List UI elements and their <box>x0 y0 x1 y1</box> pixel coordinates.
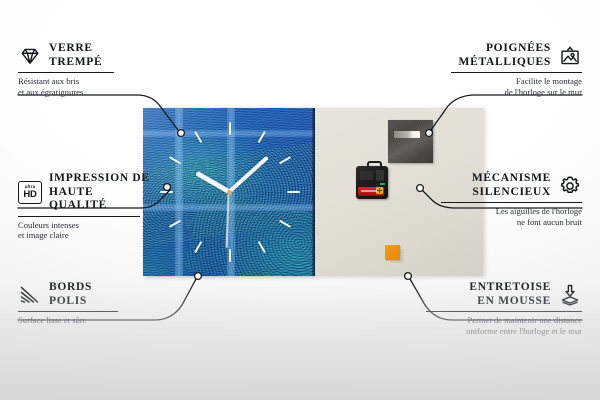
callout-poignees-metalliques[interactable]: POIGNÉES MÉTALLIQUES Facilite le montage… <box>447 42 582 98</box>
callout-mecanisme-silencieux[interactable]: MÉCANISME SILENCIEUX Les aiguilles de l'… <box>437 172 582 228</box>
arrow-down-onto-layers-icon <box>558 283 582 307</box>
callout-rule <box>441 202 582 203</box>
clock-tick <box>194 241 202 253</box>
metal-hanger-plate <box>388 120 433 163</box>
product-image-group <box>143 108 483 276</box>
callout-subtitle: Couleurs intenses et image claire <box>18 220 153 241</box>
clock-mechanism <box>356 166 388 199</box>
clock-face <box>143 108 315 276</box>
gear-icon <box>558 174 582 198</box>
callout-title: VERRE TREMPÉ <box>49 42 102 69</box>
clock-second-hand <box>226 192 230 248</box>
hanger-keyhole-slot <box>394 131 420 138</box>
foam-spacer <box>385 245 400 260</box>
battery-plus-terminal <box>376 187 383 194</box>
clock-tick <box>194 131 202 143</box>
clock-front-glass-panel <box>143 108 315 276</box>
callout-title: ENTRETOISE EN MOUSSE <box>469 281 551 308</box>
mechanism-side-detail <box>376 170 384 181</box>
mechanism-green-marker <box>380 183 385 185</box>
clock-center-cap <box>227 190 232 195</box>
clock-tick <box>160 191 173 193</box>
clock-hour-hand <box>195 171 230 194</box>
clock-tick <box>279 220 291 228</box>
callout-rule <box>18 311 118 312</box>
clock-tick <box>287 191 300 193</box>
callout-rule <box>18 216 140 217</box>
callout-subtitle: Surface lisse et sûre <box>18 315 128 326</box>
callout-title: IMPRESSION DE HAUTE QUALITÉ <box>49 172 153 213</box>
callout-rule <box>451 72 582 73</box>
clock-tick <box>229 249 231 262</box>
callout-subtitle: Résistant aux bris et aux égratignures <box>18 76 128 97</box>
mechanism-panel-detail <box>360 171 373 180</box>
mechanism-body <box>356 166 388 199</box>
clock-tick <box>279 156 291 164</box>
callout-bords-polis[interactable]: BORDS POLIS Surface lisse et sûre <box>18 281 128 326</box>
callout-impression-haute-qualite[interactable]: ultra HD IMPRESSION DE HAUTE QUALITÉ Cou… <box>18 172 153 241</box>
clock-tick <box>258 131 266 143</box>
callout-rule <box>426 311 582 312</box>
clock-tick <box>229 122 231 135</box>
callout-title: POIGNÉES MÉTALLIQUES <box>459 42 551 69</box>
callout-subtitle: Facilite le montage de l'horloge sur le … <box>447 76 582 97</box>
infographic-canvas: VERRE TREMPÉ Résistant aux bris et aux é… <box>0 0 600 400</box>
clock-minute-hand <box>228 156 269 194</box>
battery <box>358 187 384 196</box>
framed-picture-hanging-icon <box>558 44 582 68</box>
ultra-hd-icon: ultra HD <box>18 181 42 204</box>
callout-verre-trempe[interactable]: VERRE TREMPÉ Résistant aux bris et aux é… <box>18 42 128 98</box>
diamond-icon <box>18 44 42 68</box>
callout-subtitle: Permet de maintenir une distance uniform… <box>422 315 582 336</box>
callout-rule <box>18 72 114 73</box>
clock-tick <box>169 220 181 228</box>
callout-title: BORDS POLIS <box>49 281 92 308</box>
callout-title: MÉCANISME SILENCIEUX <box>472 172 551 199</box>
diagonal-lines-icon <box>18 283 42 307</box>
callout-subtitle: Les aiguilles de l'horloge ne font aucun… <box>437 206 582 227</box>
clock-tick <box>169 156 181 164</box>
clock-tick <box>258 241 266 253</box>
callout-entretoise-en-mousse[interactable]: ENTRETOISE EN MOUSSE Permet de maintenir… <box>422 281 582 337</box>
